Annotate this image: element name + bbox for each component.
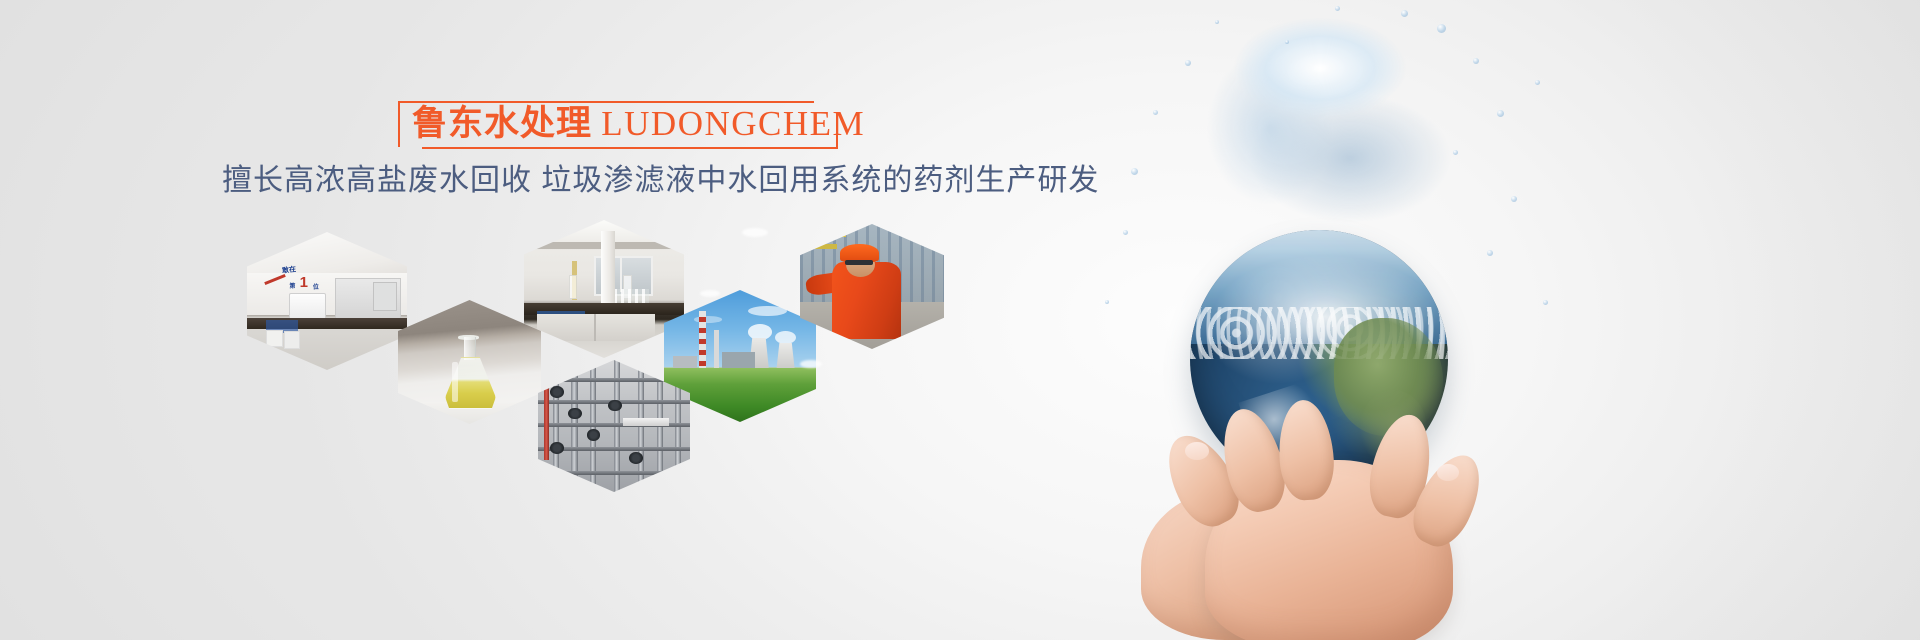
hex-photo-field-engineer-worker: [800, 224, 944, 349]
water-droplet: [1497, 110, 1504, 117]
lab-slogan-prefix: 第: [289, 281, 295, 290]
hexagon-photo-cluster: 敢在 第 1 位: [0, 0, 1060, 640]
pipe-valve: [568, 408, 582, 420]
lab-slogan-number: 1: [300, 275, 308, 290]
water-earth-visual: [1035, 0, 1595, 640]
water-droplet: [1473, 58, 1479, 64]
water-droplet: [1335, 6, 1340, 11]
water-droplet: [1453, 150, 1458, 155]
water-droplet: [1215, 20, 1219, 24]
pipe-valve: [550, 386, 564, 398]
water-droplet: [1401, 10, 1408, 17]
pipe-valve: [608, 400, 622, 412]
mist-dot: [700, 290, 720, 297]
water-droplet: [1487, 250, 1493, 256]
water-droplet: [1511, 196, 1517, 202]
mist-dot: [742, 228, 768, 237]
water-droplet: [1285, 40, 1289, 44]
cupped-hands: [1121, 398, 1517, 640]
fingernail: [1185, 442, 1209, 460]
hex-photo-yellow-reagent-flask: [398, 300, 541, 424]
water-droplet: [1535, 80, 1540, 85]
water-droplet: [1543, 300, 1548, 305]
pipe-valve: [587, 429, 601, 441]
water-droplet: [1437, 24, 1446, 33]
water-droplet: [1153, 110, 1158, 115]
hex-photo-laboratory-room: 敢在 第 1 位: [247, 232, 407, 370]
fingernail: [1437, 464, 1459, 481]
water-droplet: [1105, 300, 1109, 304]
safety-helmet-icon: [840, 244, 879, 262]
red-pipe: [544, 384, 549, 461]
horizontal-rail: [538, 471, 690, 475]
water-droplet: [1123, 230, 1128, 235]
lab-wall-slogan: 敢在 第 1 位: [261, 265, 335, 295]
lab-slogan-arrow-icon: [265, 274, 287, 285]
promo-banner: 鲁东水处理 LUDONGCHEM 擅长高浓高盐废水回收 垃圾渗滤液中水回用系统的…: [0, 0, 1920, 640]
lab-slogan-suffix: 位: [313, 282, 319, 291]
hex-photo-laboratory-glassware: [524, 220, 684, 358]
water-droplet: [1185, 60, 1191, 66]
water-droplet: [1131, 168, 1138, 175]
pipe-valve: [550, 442, 564, 454]
mist-dot: [800, 360, 822, 368]
white-tank: [623, 418, 669, 426]
